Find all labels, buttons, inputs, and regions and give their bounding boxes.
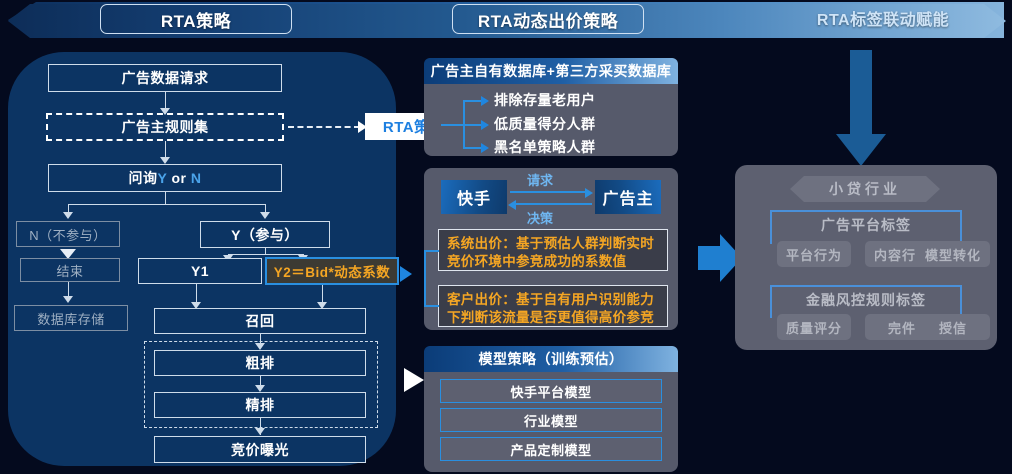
bid-box-text: 客户出价：基于自有用户识别能力下判断该流量是否更值得高价参竞 xyxy=(447,292,654,325)
branch-arrow xyxy=(481,96,489,106)
node-advertiser-rule-set[interactable]: 广告主规则集 xyxy=(46,113,284,141)
flow-arrow-request-line xyxy=(510,191,586,193)
query-y: Y xyxy=(158,170,168,186)
diagram-canvas: RTA策略 RTA动态出价策略 RTA标签联动赋能 广告数据请求 广告主规则集 … xyxy=(0,0,1012,474)
connector-arrow xyxy=(255,428,265,435)
header-tab-rta-strategy[interactable]: RTA策略 xyxy=(100,4,292,34)
chip-label: 模型转化 xyxy=(925,245,981,264)
bid-box-system[interactable]: 系统出价：基于预估人群判断实时竞价环境中参竞成功的系数值 xyxy=(438,229,668,271)
node-label: 数据库存储 xyxy=(37,309,105,328)
bracket-branch xyxy=(463,100,481,102)
flow-label: 请求 xyxy=(527,173,553,188)
node-label: Y2＝Bid*动态系数 xyxy=(274,261,391,281)
chip-model-conversion[interactable]: 模型转化 xyxy=(916,241,990,267)
header-tab-tag-synergy[interactable]: RTA标签联动赋能 xyxy=(790,4,976,32)
connector-arrow xyxy=(63,296,73,303)
connector-arrow xyxy=(160,157,170,164)
label-request: 请求 xyxy=(527,170,553,189)
group-bracket-top xyxy=(770,210,962,212)
node-label: 竞价曝光 xyxy=(231,440,289,460)
header-tab-label: RTA动态出价策略 xyxy=(478,7,618,32)
model-row-label: 快手平台模型 xyxy=(510,382,591,401)
flow-label: 决策 xyxy=(527,211,553,226)
bid-bracket-branch xyxy=(424,305,439,307)
bracket-stem xyxy=(441,124,464,126)
bid-box-text: 系统出价：基于预估人群判断实时竞价环境中参竞成功的系数值 xyxy=(447,236,654,269)
node-bid-exposure[interactable]: 竞价曝光 xyxy=(154,436,366,463)
node-y2-bid-dynamic-coef[interactable]: Y2＝Bid*动态系数 xyxy=(265,257,399,285)
header-tab-dynamic-bidding[interactable]: RTA动态出价策略 xyxy=(452,4,644,34)
model-row-label: 产品定制模型 xyxy=(510,440,591,459)
party-advertiser[interactable]: 广告主 xyxy=(595,180,661,214)
node-label: 广告数据请求 xyxy=(122,68,209,88)
header-tab-label: RTA策略 xyxy=(161,7,231,32)
party-label: 快手 xyxy=(457,185,491,209)
node-y-participate[interactable]: Y（参与） xyxy=(200,221,330,248)
db-item-label: 黑名单策略人群 xyxy=(494,139,596,155)
node-y1[interactable]: Y1 xyxy=(138,258,262,284)
node-query-y-or-n[interactable]: 问询Y or N xyxy=(48,164,282,192)
chip-platform-behavior[interactable]: 平台行为 xyxy=(777,241,851,267)
connector-line xyxy=(165,192,166,204)
db-item-0[interactable]: 排除存量老用户 xyxy=(494,90,596,110)
card-title-label: 模型策略（训练预估） xyxy=(479,349,624,369)
node-fine-rank[interactable]: 精排 xyxy=(154,392,366,418)
connector-line xyxy=(68,204,265,205)
model-row-2[interactable]: 产品定制模型 xyxy=(440,437,662,461)
node-database-storage[interactable]: 数据库存储 xyxy=(14,305,128,331)
node-end[interactable]: 结束 xyxy=(20,258,120,282)
bracket-branch xyxy=(463,147,481,149)
model-row-label: 行业模型 xyxy=(524,411,578,430)
db-item-label: 低质量得分人群 xyxy=(494,116,596,132)
arrow-to-model-card xyxy=(404,368,424,392)
db-item-2[interactable]: 黑名单策略人群 xyxy=(494,137,596,157)
query-or: or xyxy=(167,170,191,186)
node-ad-data-request[interactable]: 广告数据请求 xyxy=(48,64,282,92)
node-label: 召回 xyxy=(246,311,275,331)
model-row-1[interactable]: 行业模型 xyxy=(440,408,662,432)
card-title-label: 广告主自有数据库+第三方采买数据库 xyxy=(431,61,672,81)
group-label-risk-tags: 金融风控规则标签 xyxy=(735,290,997,310)
connector-arrow xyxy=(255,385,265,392)
bid-bracket-branch xyxy=(424,250,439,252)
query-n: N xyxy=(191,170,202,186)
chip-label: 质量评分 xyxy=(786,318,842,337)
connector-arrow xyxy=(260,212,270,219)
connector-dashed-line xyxy=(288,126,360,128)
group-label-text: 广告平台标签 xyxy=(821,217,911,233)
badge-micro-loan-industry[interactable]: 小贷行业 xyxy=(790,176,940,202)
flow-arrow-request-tip xyxy=(585,188,593,198)
connector-arrow xyxy=(63,212,73,219)
connector-line xyxy=(228,254,303,255)
db-item-label: 排除存量老用户 xyxy=(494,92,596,108)
party-label: 广告主 xyxy=(602,185,653,209)
chip-quality-score[interactable]: 质量评分 xyxy=(777,314,851,340)
branch-arrow xyxy=(481,143,489,153)
card-title: 广告主自有数据库+第三方采买数据库 xyxy=(424,58,678,84)
node-recall[interactable]: 召回 xyxy=(154,308,366,334)
badge-label: 小贷行业 xyxy=(829,179,901,199)
arrow-to-bidding-card xyxy=(400,266,412,282)
db-item-1[interactable]: 低质量得分人群 xyxy=(494,114,596,134)
query-text: 问询 xyxy=(129,170,158,186)
chip-label: 平台行为 xyxy=(786,245,842,264)
node-label: N（不参与） xyxy=(29,225,106,244)
node-label: 问询Y or N xyxy=(129,168,202,188)
group-label-text: 金融风控规则标签 xyxy=(806,292,926,308)
node-label: Y1 xyxy=(191,263,209,279)
node-label: 结束 xyxy=(56,261,83,280)
branch-arrow xyxy=(481,120,489,130)
flow-arrow-decision-line xyxy=(516,203,592,205)
node-label: 精排 xyxy=(246,395,275,415)
bid-box-client[interactable]: 客户出价：基于自有用户识别能力下判断该流量是否更值得高价参竞 xyxy=(438,285,668,327)
bracket-branch xyxy=(463,124,481,126)
group-label-platform-tags: 广告平台标签 xyxy=(735,215,997,235)
header-tab-label: RTA标签联动赋能 xyxy=(817,6,949,30)
chip-credit-granting[interactable]: 授信 xyxy=(916,314,990,340)
node-coarse-rank[interactable]: 粗排 xyxy=(154,350,366,376)
chip-label: 完件 xyxy=(888,318,916,337)
bid-bracket-vertical xyxy=(424,250,426,306)
card-title: 模型策略（训练预估） xyxy=(424,346,678,372)
node-label: 粗排 xyxy=(246,353,275,373)
label-decision: 决策 xyxy=(527,208,553,227)
arrow-header-to-right-card xyxy=(834,50,890,170)
model-row-0[interactable]: 快手平台模型 xyxy=(440,379,662,403)
node-label: 广告主规则集 xyxy=(122,117,209,137)
node-label: Y（参与） xyxy=(231,225,299,245)
party-kuaishou[interactable]: 快手 xyxy=(441,180,507,214)
node-n-not-participate[interactable]: N（不参与） xyxy=(16,221,120,247)
group2-bracket-top xyxy=(770,285,962,287)
flow-arrow-decision-tip xyxy=(508,200,516,210)
chip-label: 授信 xyxy=(939,318,967,337)
